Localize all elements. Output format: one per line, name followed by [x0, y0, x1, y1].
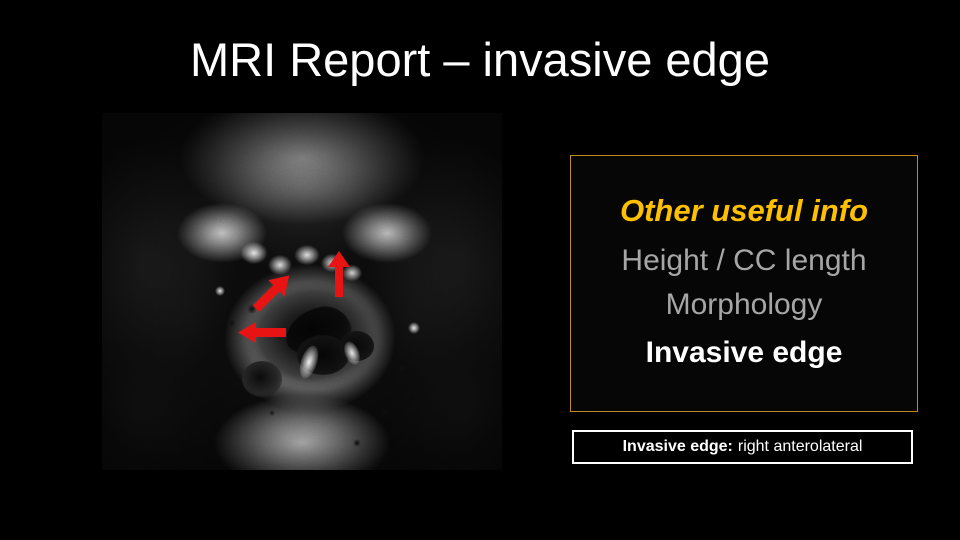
arrow-vertical-up: [324, 251, 354, 301]
info-box-heading: Other useful info: [620, 189, 868, 233]
mri-vignette: [102, 113, 502, 470]
other-useful-info-box: Other useful info Height / CC length Mor…: [570, 155, 918, 412]
info-item-morphology: Morphology: [666, 283, 823, 327]
axial-t2-pelvic-mri: [102, 113, 502, 470]
invasive-edge-caption-box: Invasive edge: right anterolateral: [572, 430, 913, 464]
arrow-horizontal-left: [238, 321, 288, 347]
presentation-slide: MRI Report – invasive edge: [0, 0, 960, 540]
caption-value: right anterolateral: [738, 438, 863, 456]
info-item-invasive-edge: Invasive edge: [646, 331, 843, 375]
info-item-height-cc-length: Height / CC length: [621, 239, 866, 283]
page-title: MRI Report – invasive edge: [0, 32, 960, 88]
arrow-diagonal-upleft: [252, 268, 302, 313]
caption-label: Invasive edge:: [623, 438, 733, 456]
